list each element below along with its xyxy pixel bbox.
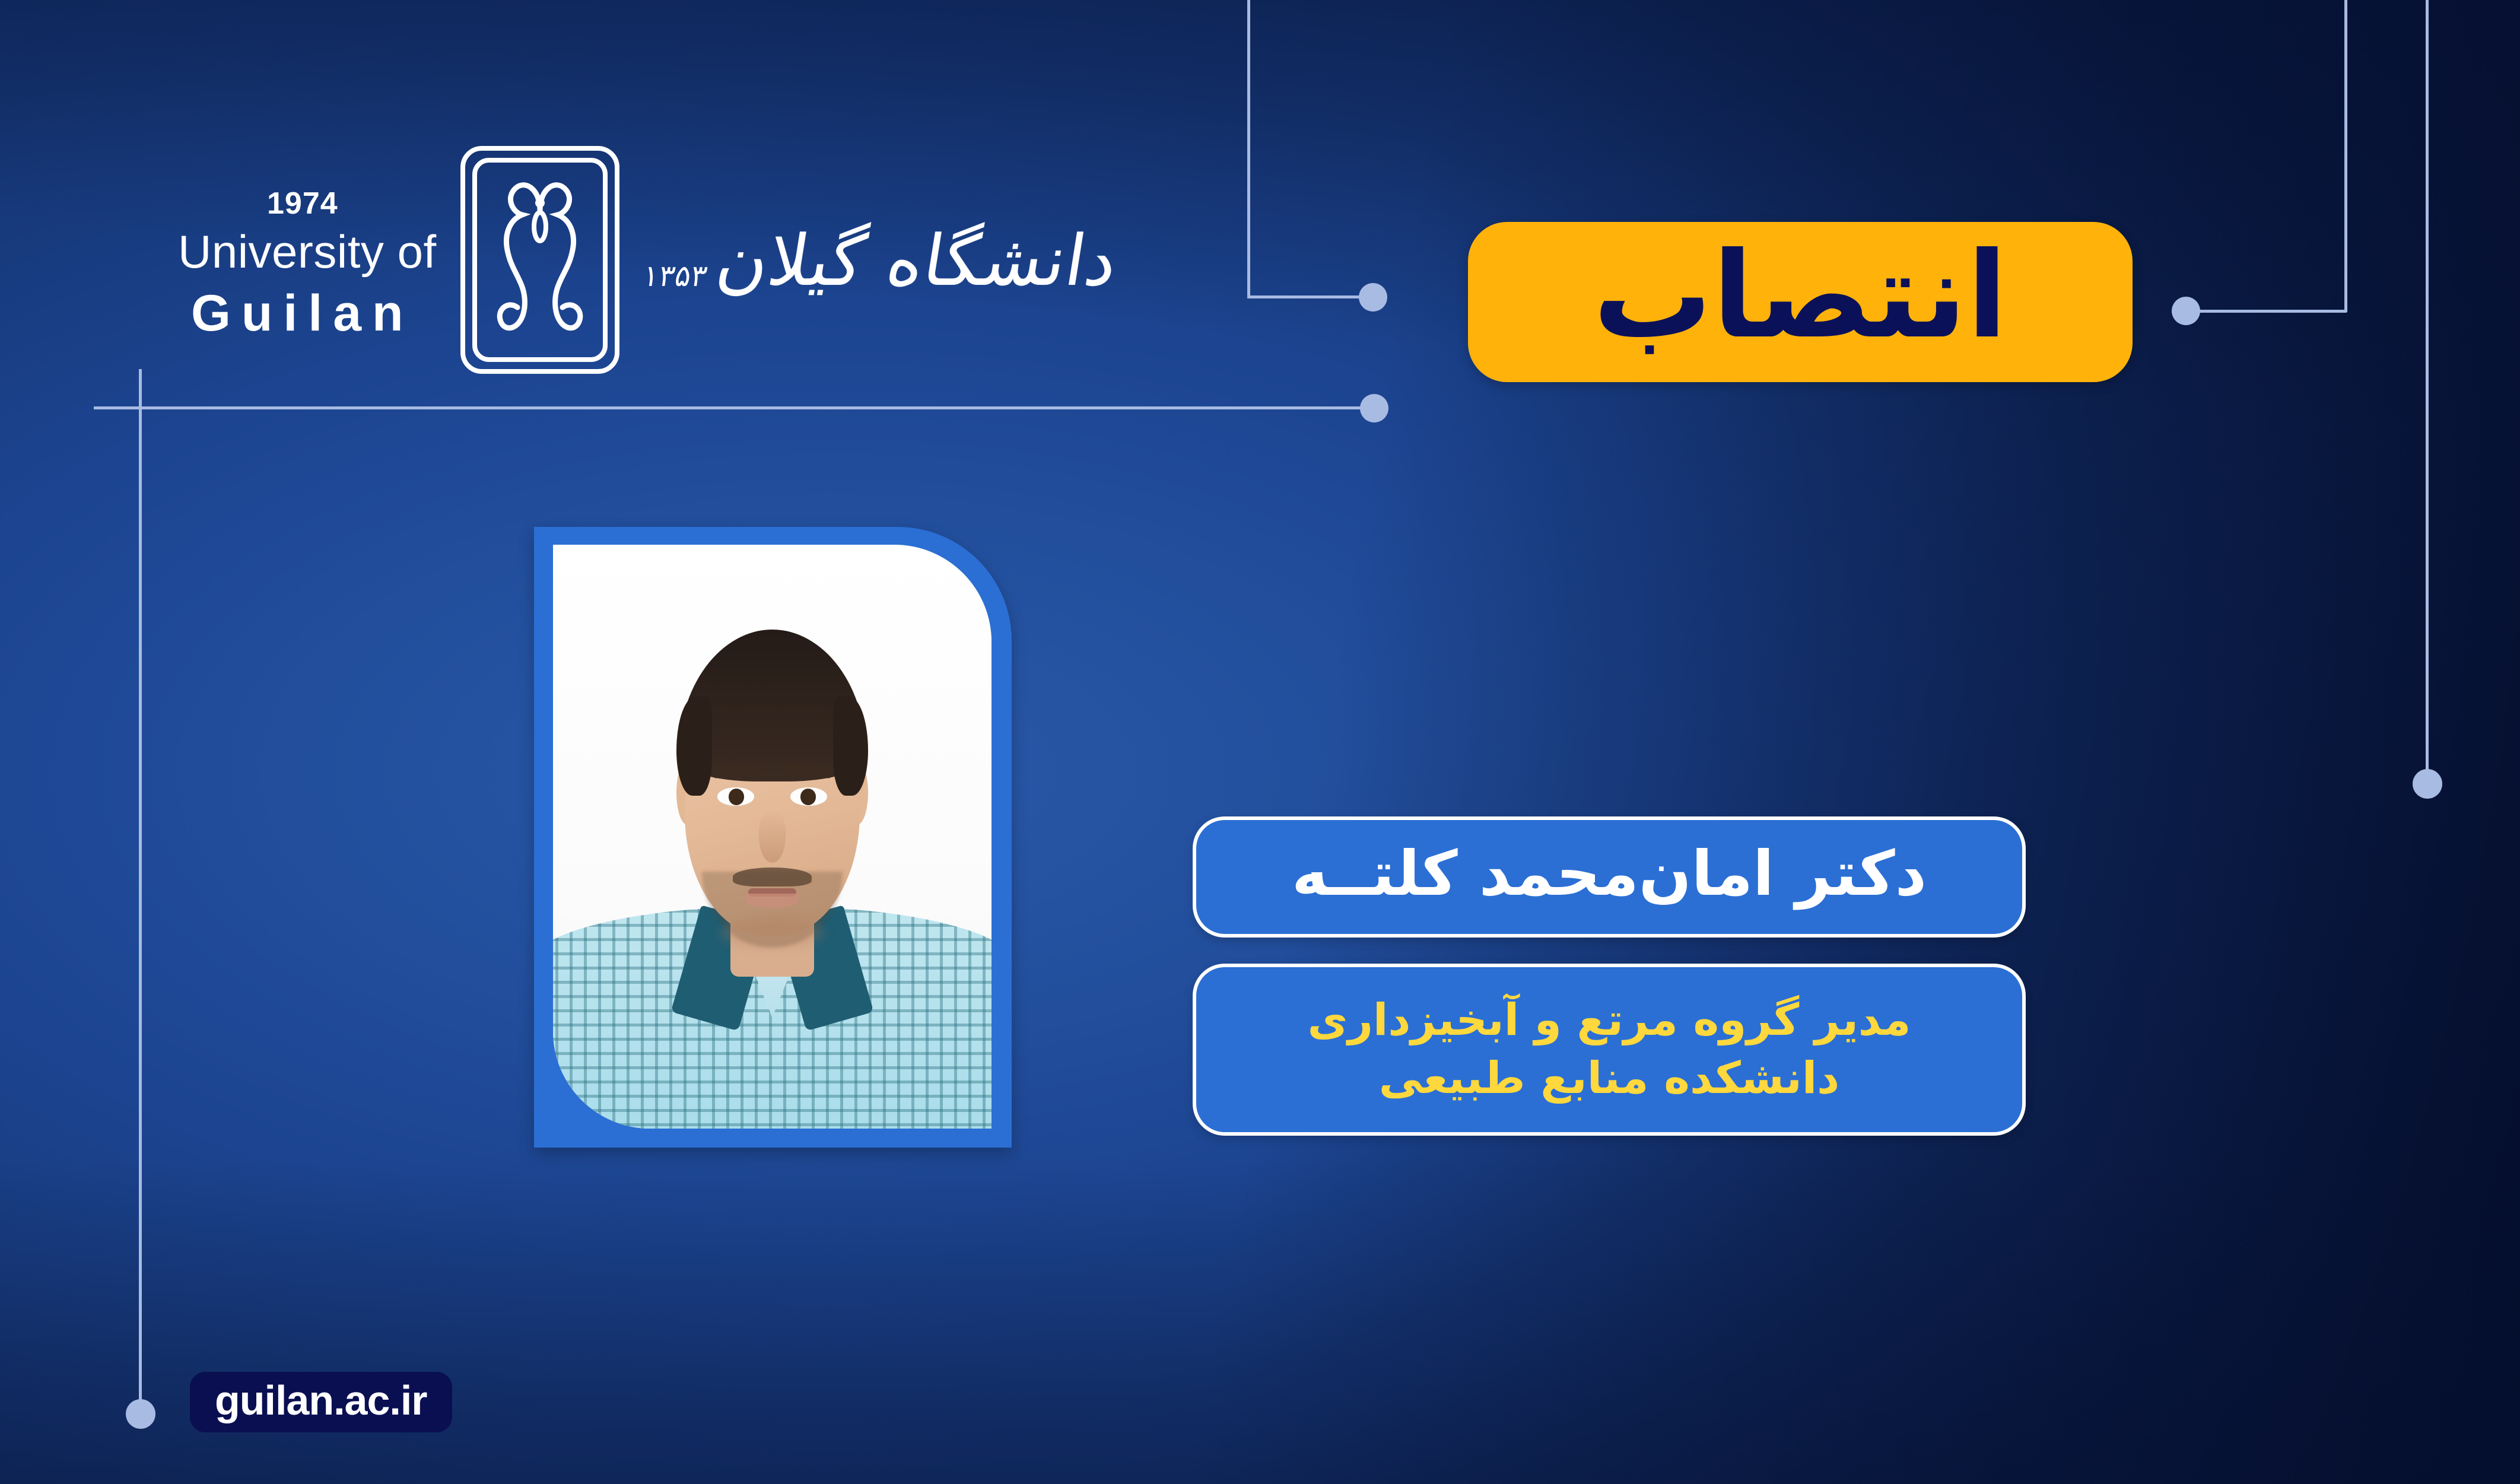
appointment-badge-label: انتصاب — [1593, 237, 2007, 355]
person-name: دکتر امان‌محمد کلتــه — [1292, 843, 1927, 904]
decor-line-under-logo — [94, 406, 1375, 409]
person-name-plate: دکتر امان‌محمد کلتــه — [1193, 816, 2026, 938]
portrait-photo — [553, 545, 992, 1129]
logo-guilan-word: Guilan — [191, 288, 437, 339]
decor-dot-right-edge — [2413, 769, 2442, 799]
decor-dot-top-center — [1359, 283, 1387, 312]
decor-dot-bottom-left — [126, 1399, 155, 1429]
person-title-line-2: دانشکده منابع طبیعی — [1379, 1050, 1839, 1108]
decor-dot-under-logo — [1360, 394, 1388, 422]
person-title-line-1: مدیر گروه مرتع و آبخیزداری — [1308, 992, 1911, 1050]
logo-founding-year-en: 1974 — [267, 188, 437, 219]
portrait-lower-lip — [746, 894, 799, 908]
logo-english-text: 1974 University of Guilan — [178, 183, 437, 339]
decor-line-right-edge-vertical — [2426, 0, 2429, 780]
website-url-pill[interactable]: guilan.ac.ir — [190, 1372, 452, 1432]
poster-canvas: 1974 University of Guilan دانشگاه گیلان … — [0, 0, 2520, 1484]
decor-line-left-vertical — [139, 369, 142, 1406]
portrait-nose — [759, 811, 785, 863]
logo-persian-text: دانشگاه گیلان ۱۳۵۳ — [643, 221, 1117, 301]
decor-dot-right-bracket — [2172, 297, 2200, 325]
decor-line-top-center-vertical — [1247, 0, 1250, 298]
portrait-iris-right — [800, 789, 816, 805]
logo-founding-year-fa: ۱۳۵۳ — [640, 259, 710, 293]
portrait-chin-shadow — [720, 919, 825, 948]
portrait-frame — [534, 527, 1012, 1148]
portrait-moustache — [733, 867, 812, 886]
logo-university-name-fa: دانشگاه گیلان — [711, 221, 1123, 301]
decor-line-right-bracket-horizontal — [2191, 310, 2347, 313]
decor-line-right-bracket-vertical — [2344, 0, 2347, 312]
website-url-text: guilan.ac.ir — [215, 1380, 427, 1421]
portrait-hair-left — [676, 697, 711, 796]
university-logo: 1974 University of Guilan دانشگاه گیلان … — [178, 136, 1222, 386]
appointment-badge: انتصاب — [1468, 222, 2133, 382]
decor-line-top-center-horizontal — [1247, 295, 1373, 298]
portrait-iris-left — [729, 789, 745, 805]
person-title-plate: مدیر گروه مرتع و آبخیزداری دانشکده منابع… — [1193, 964, 2026, 1136]
logo-university-word: University of — [178, 228, 437, 275]
guilan-emblem-icon — [451, 141, 629, 381]
